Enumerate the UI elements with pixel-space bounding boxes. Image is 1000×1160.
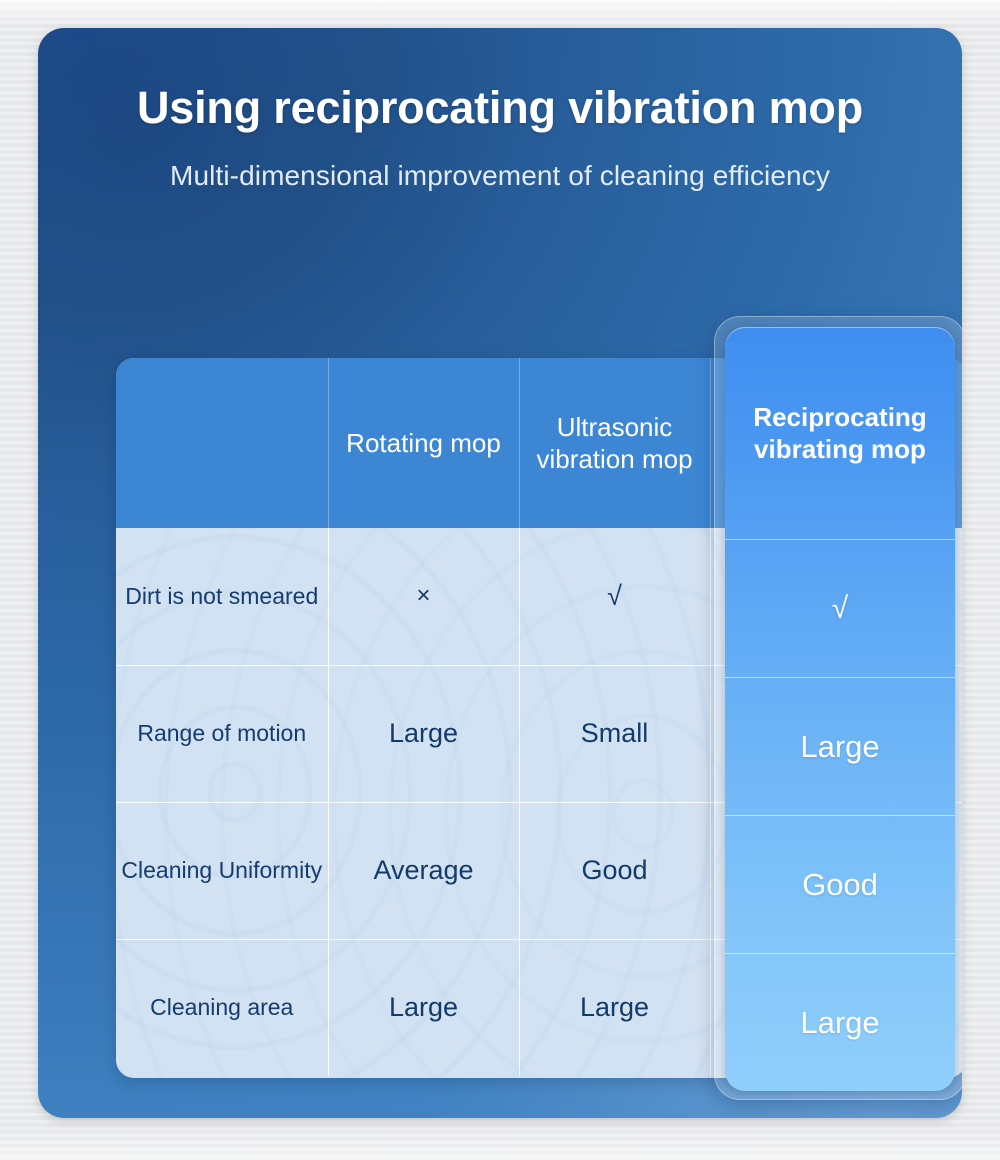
- highlighted-cell-range-of-motion: Large: [725, 678, 955, 816]
- row-label-cleaning-uniformity: Cleaning Uniformity: [116, 802, 328, 939]
- highlighted-column-card: Reciprocating vibrating mop √ Large Good…: [714, 316, 962, 1100]
- row-label-range-of-motion: Range of motion: [116, 665, 328, 802]
- page-title: Using reciprocating vibration mop: [38, 82, 962, 134]
- row-label-cleaning-area: Cleaning area: [116, 939, 328, 1076]
- highlighted-column-panel: Reciprocating vibrating mop √ Large Good…: [725, 327, 955, 1091]
- page-subtitle: Multi-dimensional improvement of cleanin…: [38, 154, 962, 199]
- cell-ultrasonic-cleaning-uniformity: Good: [519, 802, 710, 939]
- cell-rotating-cleaning-uniformity: Average: [328, 802, 519, 939]
- cell-ultrasonic-dirt-not-smeared: √: [519, 528, 710, 665]
- title-block: Using reciprocating vibration mop Multi-…: [38, 82, 962, 199]
- highlighted-cell-cleaning-uniformity: Good: [725, 816, 955, 954]
- cell-rotating-dirt-not-smeared: ×: [328, 528, 519, 665]
- column-header-feature: [116, 358, 328, 528]
- cell-ultrasonic-cleaning-area: Large: [519, 939, 710, 1076]
- promo-hero-card: Using reciprocating vibration mop Multi-…: [38, 28, 962, 1118]
- cell-ultrasonic-range-of-motion: Small: [519, 665, 710, 802]
- cell-rotating-range-of-motion: Large: [328, 665, 519, 802]
- highlighted-cell-dirt-not-smeared: √: [725, 540, 955, 678]
- highlighted-column-rows: Reciprocating vibrating mop √ Large Good…: [725, 327, 955, 1091]
- highlighted-cell-cleaning-area: Large: [725, 954, 955, 1091]
- highlighted-column-header: Reciprocating vibrating mop: [725, 327, 955, 540]
- row-label-dirt-not-smeared: Dirt is not smeared: [116, 528, 328, 665]
- column-header-rotating-mop: Rotating mop: [328, 358, 519, 528]
- cell-rotating-cleaning-area: Large: [328, 939, 519, 1076]
- column-header-ultrasonic-mop: Ultrasonic vibration mop: [519, 358, 710, 528]
